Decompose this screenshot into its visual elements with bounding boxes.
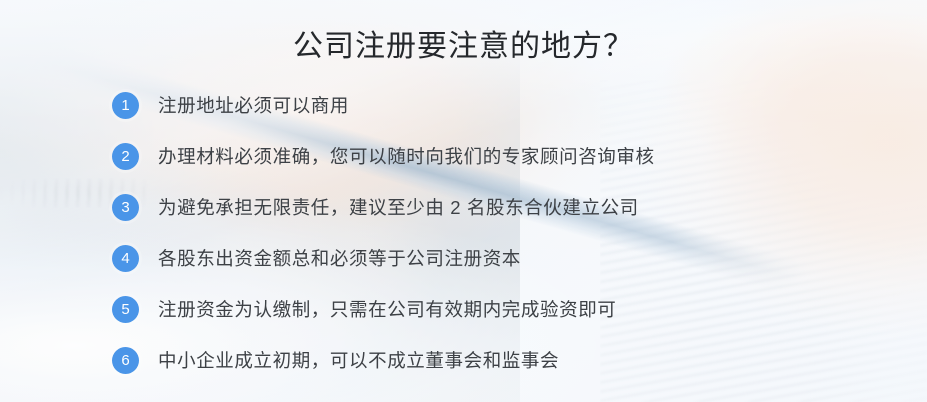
list-item: 5 注册资金为认缴制，只需在公司有效期内完成验资即可 — [112, 292, 655, 326]
list-item-number-badge: 5 — [112, 296, 139, 323]
list-item-label: 注册地址必须可以商用 — [158, 92, 349, 119]
tips-list: 1 注册地址必须可以商用 2 办理材料必须准确，您可以随时向我们的专家顾问咨询审… — [112, 88, 655, 394]
list-item: 3 为避免承担无限责任，建议至少由 2 名股东合伙建立公司 — [112, 190, 655, 224]
list-item-number-badge: 3 — [112, 194, 139, 221]
list-item-label: 办理材料必须准确，您可以随时向我们的专家顾问咨询审核 — [158, 143, 655, 170]
banner-content: 公司注册要注意的地方？ 1 注册地址必须可以商用 2 办理材料必须准确，您可以随… — [0, 0, 927, 402]
list-item: 1 注册地址必须可以商用 — [112, 88, 655, 122]
list-item-label: 中小企业成立初期，可以不成立董事会和监事会 — [158, 347, 559, 374]
list-item-label: 各股东出资金额总和必须等于公司注册资本 — [158, 245, 521, 272]
list-item-number-badge: 6 — [112, 347, 139, 374]
banner-title: 公司注册要注意的地方？ — [0, 27, 927, 67]
list-item: 6 中小企业成立初期，可以不成立董事会和监事会 — [112, 343, 655, 377]
list-item-number-badge: 2 — [112, 143, 139, 170]
list-item-number-badge: 1 — [112, 92, 139, 119]
list-item-label: 注册资金为认缴制，只需在公司有效期内完成验资即可 — [158, 296, 616, 323]
list-item: 4 各股东出资金额总和必须等于公司注册资本 — [112, 241, 655, 275]
list-item: 2 办理材料必须准确，您可以随时向我们的专家顾问咨询审核 — [112, 139, 655, 173]
list-item-label: 为避免承担无限责任，建议至少由 2 名股东合伙建立公司 — [158, 194, 639, 221]
company-registration-banner: 公司注册要注意的地方？ 1 注册地址必须可以商用 2 办理材料必须准确，您可以随… — [0, 0, 927, 402]
list-item-number-badge: 4 — [112, 245, 139, 272]
